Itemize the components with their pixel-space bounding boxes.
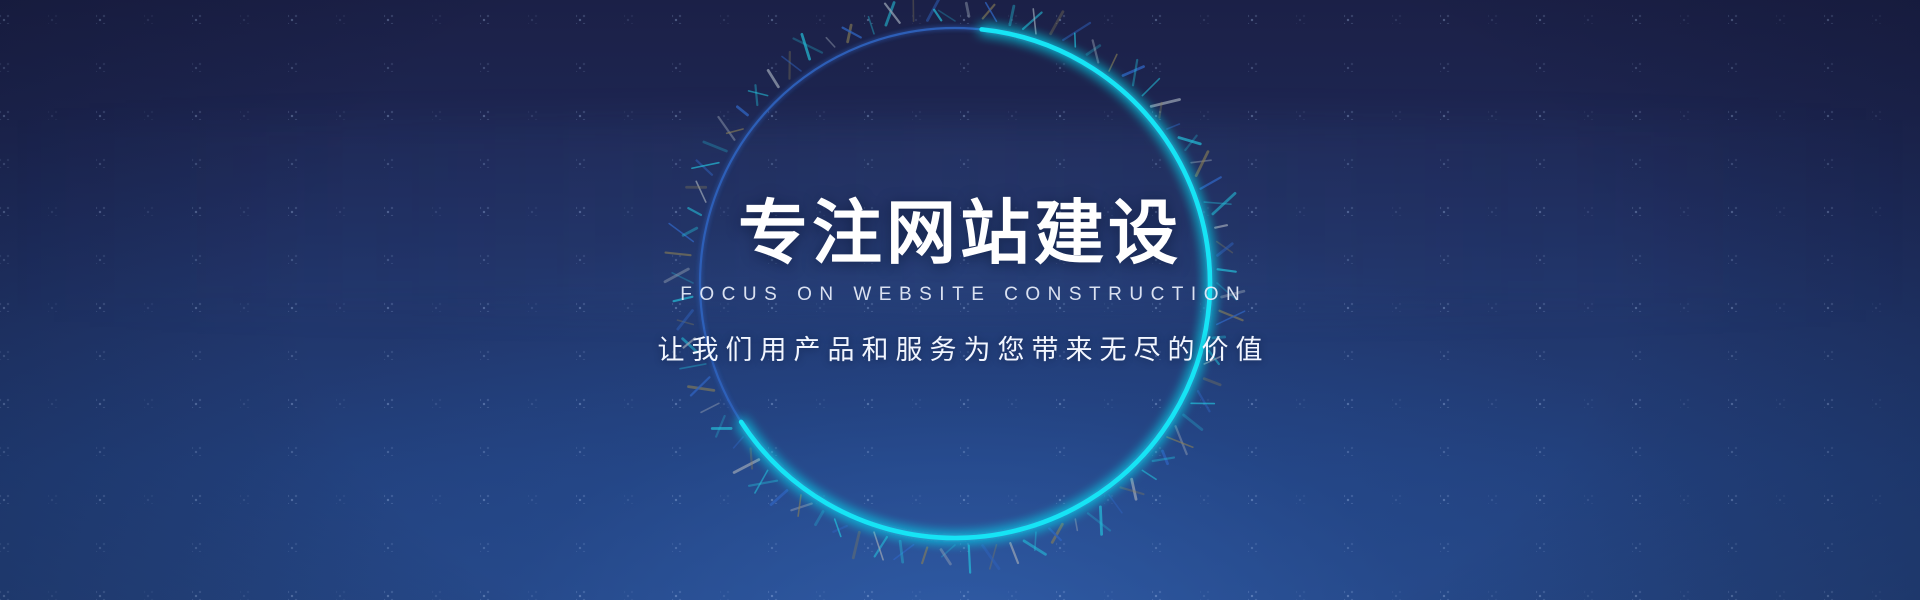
ring-tick	[718, 117, 734, 140]
ring-tick	[868, 17, 874, 34]
ring-tick	[886, 3, 894, 26]
ring-tick	[692, 163, 719, 169]
ring-tick	[1176, 426, 1187, 454]
ring-tick	[1198, 391, 1210, 411]
ring-tick	[1167, 437, 1193, 447]
ring-tick	[894, 545, 913, 560]
ring-tick	[1010, 543, 1018, 563]
ring-tick	[816, 512, 824, 525]
ring-tick	[1123, 67, 1144, 76]
banner-content: 专注网站建设 FOCUS ON WEBSITE CONSTRUCTION 让我们…	[0, 196, 1920, 367]
ring-tick	[826, 38, 834, 47]
ring-tick	[1167, 124, 1179, 129]
ring-tick	[874, 532, 883, 560]
ring-tick	[990, 545, 997, 569]
ring-tick	[1179, 138, 1200, 144]
ring-tick	[727, 129, 743, 133]
ring-tick	[749, 481, 777, 486]
ring-tick	[1196, 152, 1208, 176]
ring-tick	[927, 0, 942, 20]
ring-tick	[794, 39, 822, 53]
ring-tick	[701, 403, 719, 412]
ring-tick	[771, 491, 787, 505]
ring-tick	[966, 3, 969, 16]
ring-tick	[1204, 379, 1220, 385]
ring-tick	[802, 34, 810, 59]
ring-tick	[885, 4, 900, 23]
ring-tick	[1100, 507, 1101, 534]
ring-tick	[848, 25, 852, 42]
ring-tick	[791, 504, 811, 511]
ring-tick	[1088, 513, 1110, 530]
ring-tick	[983, 546, 999, 569]
ring-tick	[934, 10, 941, 21]
ring-tick	[1075, 33, 1076, 47]
ring-tick	[768, 70, 778, 86]
ring-tick	[1121, 487, 1144, 494]
ring-tick	[798, 495, 801, 516]
ring-tick	[1133, 60, 1137, 85]
ring-tick	[1049, 529, 1061, 541]
ring-tick	[688, 387, 713, 391]
ring-tick	[755, 85, 757, 105]
ring-tick	[875, 537, 887, 556]
ring-tick	[843, 28, 861, 38]
hero-banner: 专注网站建设 FOCUS ON WEBSITE CONSTRUCTION 让我们…	[0, 0, 1920, 600]
ring-tick	[1153, 458, 1174, 461]
ring-tick	[939, 10, 955, 21]
ring-tick	[900, 541, 903, 562]
ring-tick	[1052, 524, 1062, 542]
ring-tick	[782, 57, 801, 72]
ring-tick	[969, 546, 970, 573]
ring-tick	[983, 5, 995, 19]
ring-tick	[1132, 479, 1136, 499]
ring-tick	[1184, 415, 1202, 429]
ring-tick	[1142, 470, 1156, 479]
ring-tick	[1109, 495, 1122, 513]
ring-tick	[922, 548, 927, 564]
ring-tick	[1035, 532, 1036, 550]
ring-tick	[751, 449, 752, 469]
ring-tick	[1033, 9, 1036, 34]
ring-tick	[1109, 55, 1117, 72]
ring-tick	[1159, 103, 1161, 117]
ring-tick	[1201, 177, 1221, 188]
ring-tick	[1075, 519, 1077, 530]
ring-tick	[716, 416, 724, 437]
ring-tick	[704, 142, 727, 151]
ring-tick	[734, 460, 759, 473]
ring-tick	[1051, 12, 1063, 34]
ring-tick	[737, 107, 747, 115]
ring-tick	[1023, 13, 1042, 29]
ring-tick	[942, 545, 955, 557]
ring-tick	[1142, 79, 1159, 96]
ring-tick	[986, 3, 997, 22]
ring-tick	[835, 519, 841, 536]
ring-tick	[853, 532, 859, 558]
ring-tick	[1063, 23, 1090, 40]
ring-tick	[1093, 40, 1099, 62]
ring-tick	[1151, 100, 1179, 107]
page-title: 专注网站建设	[0, 196, 1920, 270]
ring-tick	[749, 91, 768, 96]
ring-tick	[1185, 136, 1196, 150]
banner-subtitle: FOCUS ON WEBSITE CONSTRUCTION	[0, 284, 1920, 306]
ring-tick	[1024, 541, 1045, 554]
ring-tick	[1163, 451, 1168, 464]
ring-tick	[691, 377, 710, 395]
ring-tick	[833, 526, 847, 532]
ring-tick	[1087, 46, 1100, 55]
ring-tick	[697, 160, 712, 174]
ring-tick	[1010, 6, 1014, 25]
ring-tick	[941, 550, 950, 564]
banner-tagline: 让我们用产品和服务为您带来无尽的价值	[0, 328, 1920, 367]
ring-tick	[734, 437, 743, 448]
ring-tick	[1191, 160, 1211, 163]
ring-tick	[755, 470, 768, 493]
